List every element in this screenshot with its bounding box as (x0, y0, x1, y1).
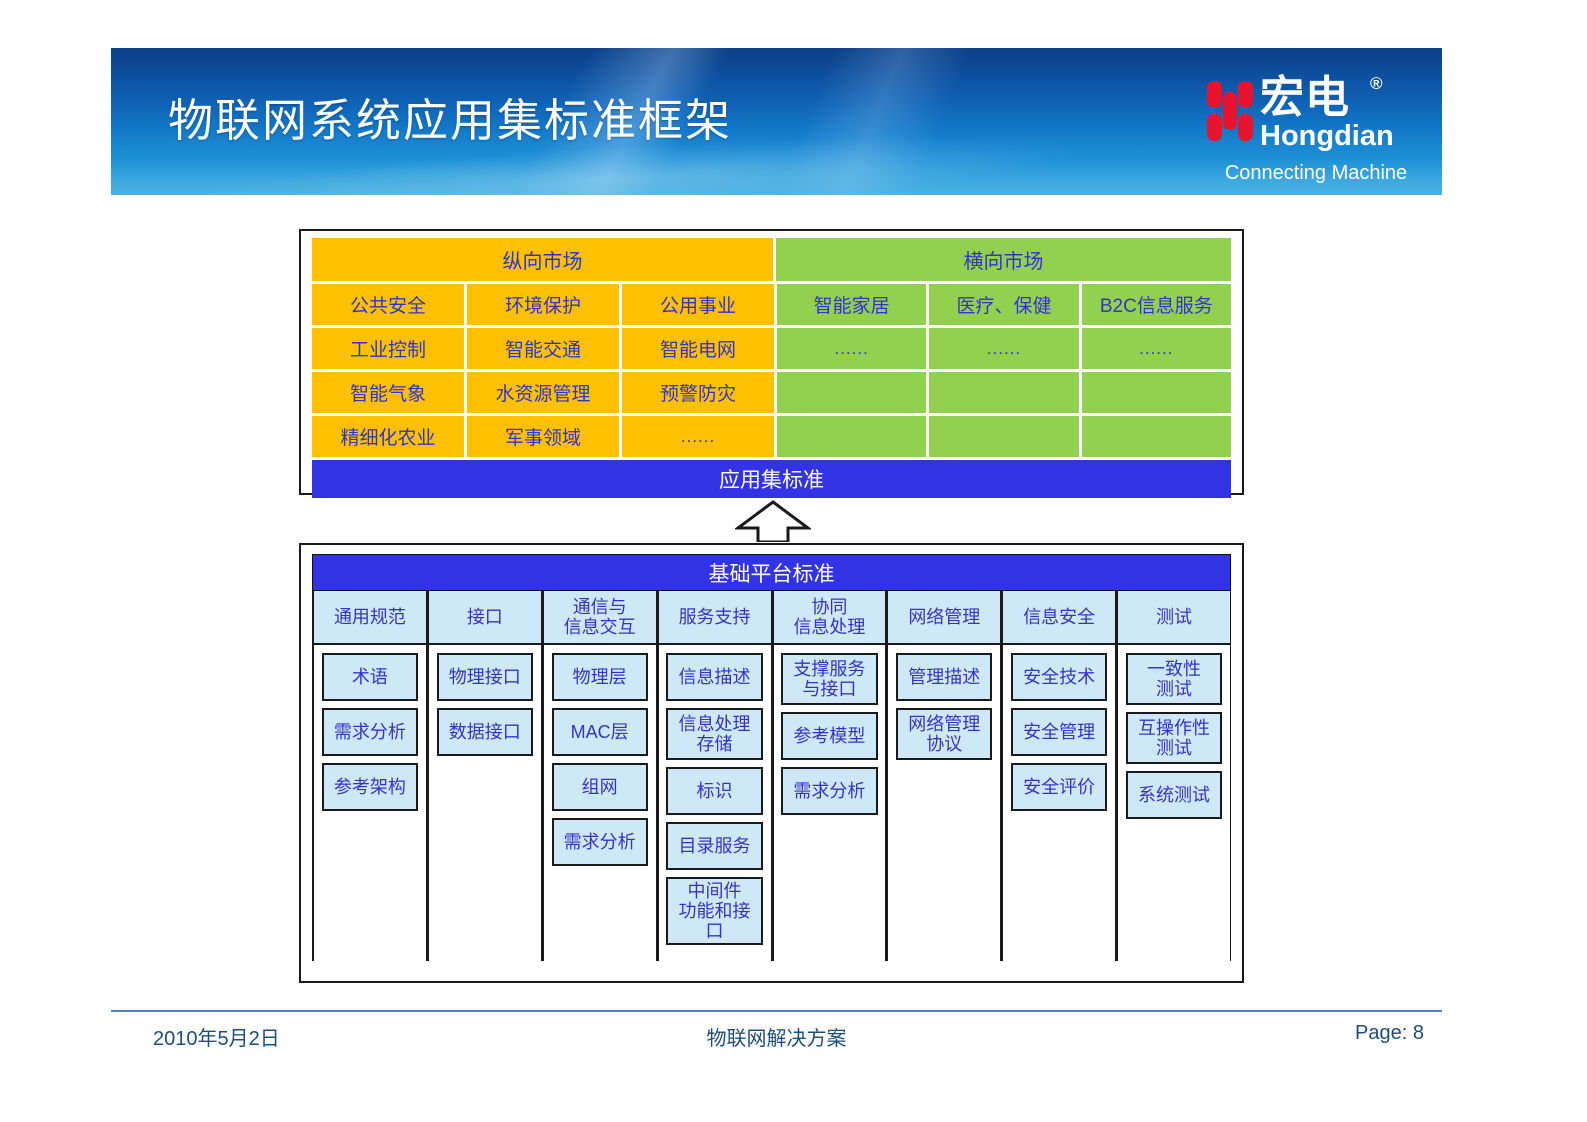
platform-item[interactable]: MAC层 (552, 708, 648, 756)
platform-item[interactable]: 管理描述 (896, 653, 992, 701)
logo-chinese-name: 宏电 (1260, 76, 1350, 120)
vertical-market-cell[interactable]: 智能气象 (312, 372, 464, 413)
upward-arrow-icon (735, 500, 811, 542)
vertical-market-cell[interactable]: 智能电网 (622, 328, 774, 369)
vertical-market-cell[interactable]: 工业控制 (312, 328, 464, 369)
platform-column-items: 物理接口数据接口 (429, 645, 541, 756)
horizontal-market-cell[interactable]: ...... (1082, 328, 1231, 369)
market-row: 公共安全环境保护公用事业智能家居医疗、保健B2C信息服务 (312, 284, 1231, 325)
footer-divider (111, 1010, 1442, 1012)
platform-column-header[interactable]: 通用规范 (314, 591, 426, 645)
market-row: 精细化农业军事领域...... (312, 416, 1231, 457)
vertical-market-cell[interactable]: 水资源管理 (467, 372, 619, 413)
platform-column-items: 物理层MAC层组网需求分析 (544, 645, 656, 866)
platform-column-header[interactable]: 信息安全 (1003, 591, 1115, 645)
vertical-market-cell[interactable]: 公用事业 (622, 284, 774, 325)
horizontal-market-cell[interactable] (777, 416, 926, 457)
vertical-market-header: 纵向市场 (312, 238, 773, 281)
platform-column: 信息安全安全技术安全管理安全评价 (1001, 591, 1116, 961)
platform-column-header[interactable]: 通信与信息交互 (544, 591, 656, 645)
platform-item[interactable]: 支撑服务与接口 (781, 653, 877, 705)
logo-tagline: Connecting Machine (1204, 162, 1428, 185)
header-banner: 物联网系统应用集标准框架 宏电 ® Hongdian Connecting Ma… (111, 48, 1442, 195)
vertical-market-cell[interactable]: 预警防灾 (622, 372, 774, 413)
platform-column-items: 支撑服务与接口参考模型需求分析 (774, 645, 886, 815)
platform-item[interactable]: 系统测试 (1126, 771, 1222, 819)
platform-column-items: 安全技术安全管理安全评价 (1003, 645, 1115, 811)
platform-column: 接口物理接口数据接口 (427, 591, 542, 961)
platform-item[interactable]: 术语 (322, 653, 418, 701)
platform-standard-title: 基础平台标准 (312, 554, 1231, 591)
horizontal-market-cell[interactable]: ...... (929, 328, 1078, 369)
platform-item[interactable]: 互操作性测试 (1126, 712, 1222, 764)
market-row: 智能气象水资源管理预警防灾 (312, 372, 1231, 413)
footer-page-number: Page: 8 (1355, 1022, 1424, 1045)
slide-footer: 2010年5月2日 物联网解决方案 Page: 8 (111, 1018, 1442, 1052)
horizontal-market-cell[interactable] (1082, 416, 1231, 457)
platform-item[interactable]: 网络管理协议 (896, 708, 992, 760)
footer-subject: 物联网解决方案 (111, 1022, 1442, 1051)
vertical-market-cell[interactable]: 精细化农业 (312, 416, 464, 457)
hongdian-h-mark-icon (1206, 80, 1254, 142)
platform-column-header[interactable]: 网络管理 (888, 591, 1000, 645)
platform-column-items: 信息描述信息处理存储标识目录服务中间件功能和接口 (659, 645, 771, 945)
page-title: 物联网系统应用集标准框架 (168, 84, 732, 149)
platform-column: 通用规范术语需求分析参考架构 (312, 591, 427, 961)
platform-column-items: 术语需求分析参考架构 (314, 645, 426, 811)
platform-item[interactable]: 物理层 (552, 653, 648, 701)
application-standards-panel: 纵向市场 横向市场 公共安全环境保护公用事业智能家居医疗、保健B2C信息服务工业… (299, 229, 1244, 495)
platform-item[interactable]: 需求分析 (552, 818, 648, 866)
horizontal-market-cell[interactable]: B2C信息服务 (1082, 284, 1231, 325)
horizontal-market-cell[interactable]: ...... (777, 328, 926, 369)
market-headers-row: 纵向市场 横向市场 (312, 238, 1231, 281)
platform-item[interactable]: 目录服务 (666, 822, 762, 870)
horizontal-market-header: 横向市场 (776, 238, 1231, 281)
platform-item[interactable]: 标识 (666, 767, 762, 815)
platform-column: 通信与信息交互物理层MAC层组网需求分析 (542, 591, 657, 961)
horizontal-market-cell[interactable]: 智能家居 (777, 284, 926, 325)
platform-column: 服务支持信息描述信息处理存储标识目录服务中间件功能和接口 (657, 591, 772, 961)
horizontal-market-cell[interactable] (1082, 372, 1231, 413)
platform-item[interactable]: 中间件功能和接口 (666, 877, 762, 945)
platform-item[interactable]: 物理接口 (437, 653, 533, 701)
platform-item[interactable]: 安全技术 (1011, 653, 1107, 701)
logo-english-name: Hongdian (1260, 122, 1394, 151)
platform-item[interactable]: 组网 (552, 763, 648, 811)
vertical-market-cell[interactable]: 智能交通 (467, 328, 619, 369)
platform-column-header[interactable]: 测试 (1118, 591, 1230, 645)
platform-column: 协同信息处理支撑服务与接口参考模型需求分析 (772, 591, 887, 961)
platform-columns: 通用规范术语需求分析参考架构接口物理接口数据接口通信与信息交互物理层MAC层组网… (312, 591, 1231, 961)
platform-column-items: 管理描述网络管理协议 (888, 645, 1000, 760)
platform-item[interactable]: 参考架构 (322, 763, 418, 811)
platform-item[interactable]: 信息描述 (666, 653, 762, 701)
registered-trademark-icon: ® (1370, 74, 1383, 94)
horizontal-market-cell[interactable]: 医疗、保健 (929, 284, 1078, 325)
horizontal-market-cell[interactable] (777, 372, 926, 413)
market-grid: 公共安全环境保护公用事业智能家居医疗、保健B2C信息服务工业控制智能交通智能电网… (312, 284, 1231, 457)
market-row: 工业控制智能交通智能电网.................. (312, 328, 1231, 369)
platform-column: 网络管理管理描述网络管理协议 (886, 591, 1001, 961)
platform-item[interactable]: 安全评价 (1011, 763, 1107, 811)
platform-item[interactable]: 信息处理存储 (666, 708, 762, 760)
platform-column-items: 一致性测试互操作性测试系统测试 (1118, 645, 1230, 819)
platform-standards-panel: 基础平台标准 通用规范术语需求分析参考架构接口物理接口数据接口通信与信息交互物理… (299, 543, 1244, 983)
vertical-market-cell[interactable]: 军事领域 (467, 416, 619, 457)
platform-item[interactable]: 数据接口 (437, 708, 533, 756)
platform-column-header[interactable]: 服务支持 (659, 591, 771, 645)
application-standard-bar: 应用集标准 (312, 460, 1231, 498)
horizontal-market-cell[interactable] (929, 372, 1078, 413)
platform-item[interactable]: 一致性测试 (1126, 653, 1222, 705)
vertical-market-cell[interactable]: 公共安全 (312, 284, 464, 325)
hongdian-logo: 宏电 ® Hongdian Connecting Machine (1198, 76, 1428, 191)
platform-item[interactable]: 参考模型 (781, 712, 877, 760)
platform-column-header[interactable]: 接口 (429, 591, 541, 645)
horizontal-market-cell[interactable] (929, 416, 1078, 457)
platform-item[interactable]: 需求分析 (781, 767, 877, 815)
platform-column: 测试一致性测试互操作性测试系统测试 (1116, 591, 1231, 961)
vertical-market-cell[interactable]: ...... (622, 416, 774, 457)
platform-column-header[interactable]: 协同信息处理 (774, 591, 886, 645)
vertical-market-cell[interactable]: 环境保护 (467, 284, 619, 325)
platform-item[interactable]: 需求分析 (322, 708, 418, 756)
platform-item[interactable]: 安全管理 (1011, 708, 1107, 756)
